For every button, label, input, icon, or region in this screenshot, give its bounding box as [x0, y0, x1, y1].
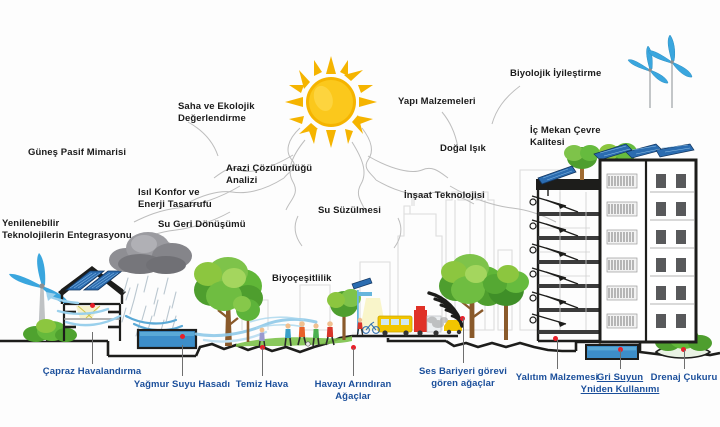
label-saha-ve-ekolojik: Saha ve Ekolojik Değerlendirme — [178, 101, 298, 125]
leader-line-capraz-havalandirma — [92, 332, 93, 364]
label-yenilenebilir-teknolojiler: Yenilenebilir Teknolojilerin Entegrasyon… — [2, 218, 142, 242]
label-su-geri-donusumu: Su Geri Dönüşümü — [158, 219, 268, 231]
leader-line-drenaj-cukuru — [684, 350, 685, 369]
label-su-suzulmesi: Su Süzülmesi — [318, 205, 408, 217]
label-drenaj-cukuru: Drenaj Çukuru — [637, 372, 720, 384]
label-temiz-hava: Temiz Hava — [217, 379, 307, 391]
label-havayi-arindiran-agaclar: Havayı Arındıran Ağaçlar — [298, 379, 408, 403]
label-biyocesitlilik: Biyoçeşitlilik — [272, 273, 352, 285]
label-dogal-isik: Doğal Işık — [440, 143, 510, 155]
label-isil-konfor: Isıl Konfor ve Enerji Tasarrufu — [138, 187, 248, 211]
label-capraz-havalandirma: Çapraz Havalandırma — [27, 366, 157, 378]
leader-line-ses-bariyeri-agaclar — [463, 318, 464, 363]
infographic-canvas: Güneş Pasif MimarisiYenilenebilir Teknol… — [0, 0, 720, 427]
label-ic-mekan-cevre: İç Mekan Çevre Kalitesi — [530, 125, 640, 149]
label-yapi-malzemeleri: Yapı Malzemeleri — [398, 96, 508, 108]
label-insaat-teknolojisi: İnşaat Teknolojisi — [404, 190, 514, 202]
label-biyolojik-iyilestirme: Biyolojik İyileştirme — [510, 68, 640, 80]
leader-line-temiz-hava — [262, 348, 263, 376]
leader-line-havayi-arindiran-agaclar — [353, 348, 354, 376]
label-gunes-pasif-mimarisi: Güneş Pasif Mimarisi — [28, 147, 158, 159]
label-arazi-cozunurlugu: Arazi Çözünürlüğü Analizi — [226, 163, 346, 187]
leader-line-gri-suyun-yeniden-kullanimi — [620, 350, 621, 369]
leader-line-yalitim-malzemesi — [557, 340, 558, 369]
leader-line-yagmur-suyu-hasadi — [182, 345, 183, 376]
